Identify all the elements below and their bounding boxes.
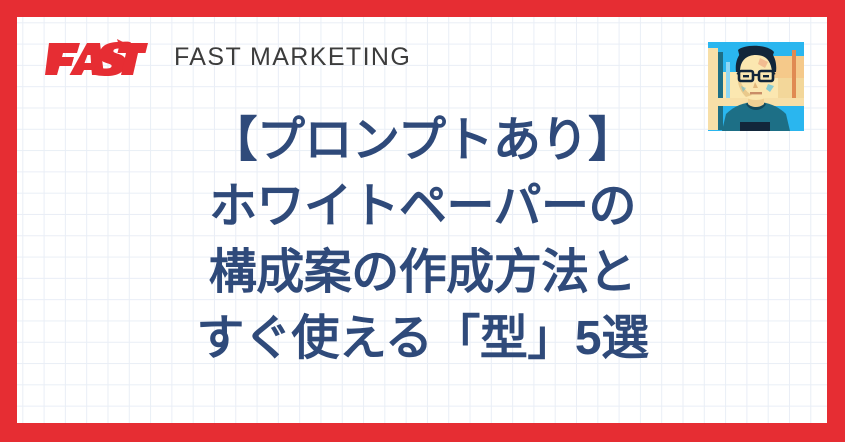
fast-logo-icon [44,38,152,76]
thumbnail-canvas: FAST MARKETING [0,0,845,442]
page-title: 【プロンプトあり】 ホワイトペーパーの 構成案の作成方法と すぐ使える「型」5選 [0,108,845,372]
title-line-1: 【プロンプトあり】 [0,108,845,174]
title-line-3: 構成案の作成方法と [0,240,845,306]
brand-header: FAST MARKETING [44,38,411,76]
red-frame-top [0,0,845,17]
brand-name-label: FAST MARKETING [174,45,411,70]
title-line-2: ホワイトペーパーの [0,174,845,240]
title-line-4: すぐ使える「型」5選 [0,306,845,372]
red-frame-bottom [0,423,845,442]
